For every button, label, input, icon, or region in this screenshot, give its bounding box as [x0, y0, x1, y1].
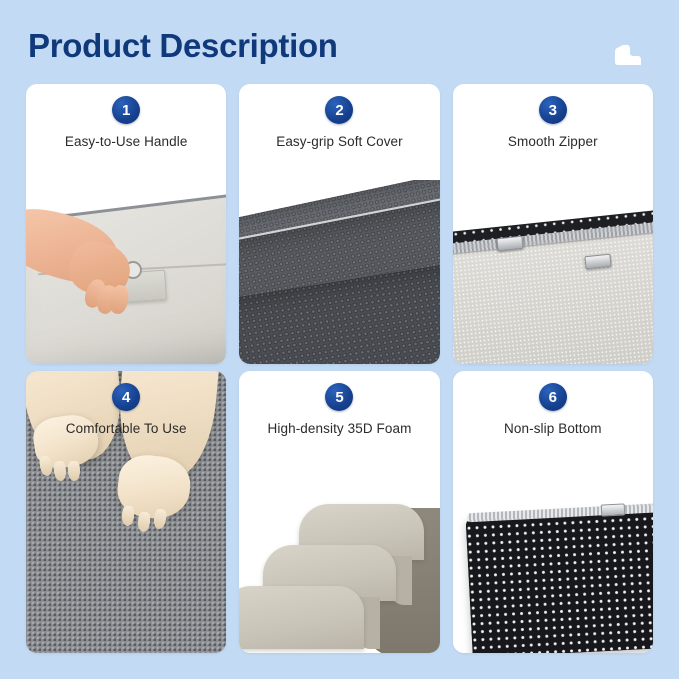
card-5-caption: High-density 35D Foam [268, 421, 412, 436]
product-description-page: Product Description 1 Easy-to-Use Handle [0, 0, 679, 679]
page-title: Product Description [28, 24, 338, 68]
card-3-caption: Smooth Zipper [508, 134, 598, 149]
feature-card-5[interactable]: 5 High-density 35D Foam [239, 371, 439, 653]
page-corner-icon [615, 44, 641, 66]
card-2-header: 2 Easy-grip Soft Cover [239, 84, 439, 162]
card-6-caption: Non-slip Bottom [504, 421, 602, 436]
step-badge-2: 2 [325, 96, 353, 124]
non-slip-dotted-bottom-photo [453, 467, 653, 653]
foam-steps-photo [239, 467, 439, 653]
feature-card-3[interactable]: 3 Smooth Zipper [453, 84, 653, 364]
hand-gripping-handle-photo [26, 180, 226, 364]
step-badge-5: 5 [325, 383, 353, 411]
feature-card-1[interactable]: 1 Easy-to-Use Handle [26, 84, 226, 364]
card-5-header: 5 High-density 35D Foam [239, 371, 439, 449]
feature-card-4[interactable]: 4 Comfortable To Use [26, 371, 226, 653]
card-1-header: 1 Easy-to-Use Handle [26, 84, 226, 162]
card-4-header: 4 Comfortable To Use [26, 371, 226, 449]
card-4-caption: Comfortable To Use [66, 421, 187, 436]
card-1-caption: Easy-to-Use Handle [65, 134, 188, 149]
step-badge-1: 1 [112, 96, 140, 124]
double-pull-zipper-photo [453, 180, 653, 364]
step-badge-3: 3 [539, 96, 567, 124]
card-3-header: 3 Smooth Zipper [453, 84, 653, 162]
feature-card-2[interactable]: 2 Easy-grip Soft Cover [239, 84, 439, 364]
card-2-caption: Easy-grip Soft Cover [276, 134, 403, 149]
feature-card-6[interactable]: 6 Non-slip Bottom [453, 371, 653, 653]
card-6-header: 6 Non-slip Bottom [453, 371, 653, 449]
soft-bubble-fabric-photo [239, 180, 439, 364]
step-badge-4: 4 [112, 383, 140, 411]
feature-card-grid: 1 Easy-to-Use Handle 2 Easy-grip Soft Co… [26, 84, 653, 653]
step-badge-6: 6 [539, 383, 567, 411]
